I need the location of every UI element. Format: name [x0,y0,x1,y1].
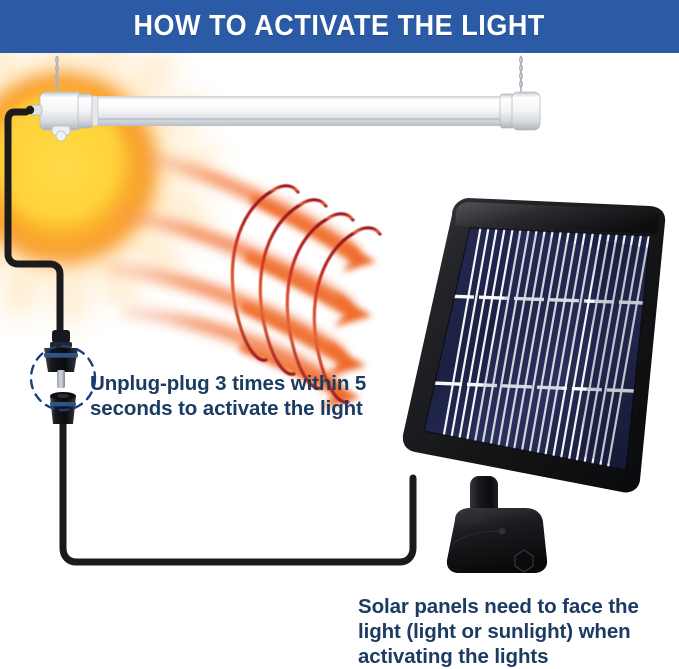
infographic-canvas: HOW TO ACTIVATE THE LIGHT Unplug-plug 3 … [0,0,679,669]
caption-unplug-instruction: Unplug-plug 3 times within 5 seconds to … [90,371,390,421]
caption-solar-panel-instruction: Solar panels need to face the light (lig… [358,594,670,669]
page-title: HOW TO ACTIVATE THE LIGHT [134,12,545,41]
dc-barrel-connector [31,330,95,424]
wall-mount-bracket [447,476,547,573]
illustration-artwork [0,0,679,669]
solar-panel [403,198,665,573]
header-banner: HOW TO ACTIVATE THE LIGHT [0,0,679,53]
hanging-chain-right [520,56,522,97]
